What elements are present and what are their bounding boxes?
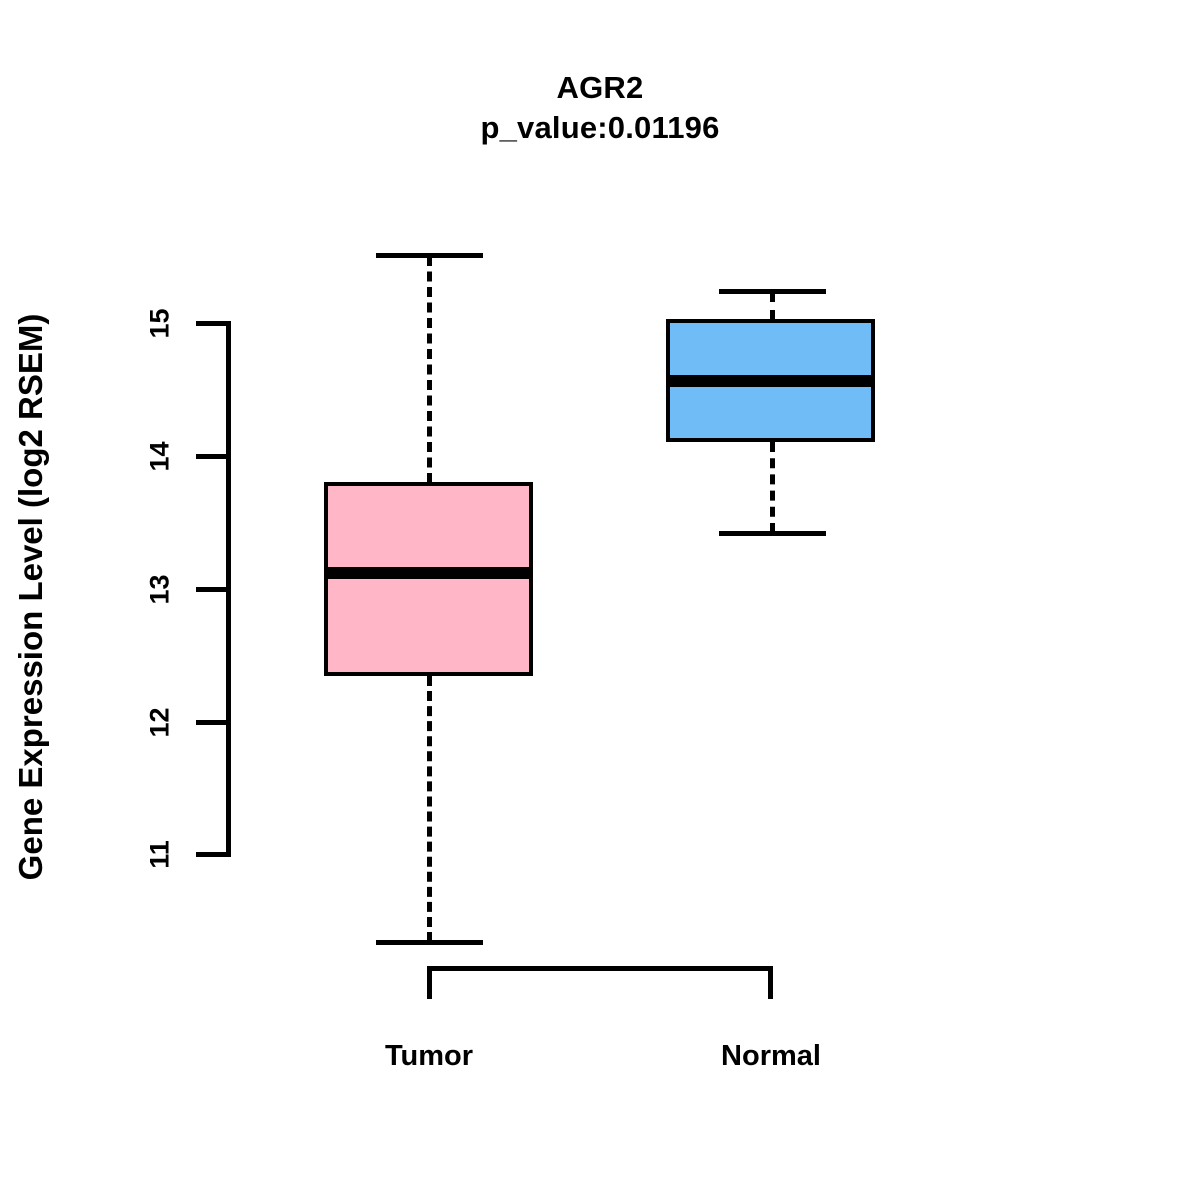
chart-subtitle-pvalue: p_value:0.01196 bbox=[0, 108, 1200, 148]
normal-upper-whisker-line bbox=[770, 292, 775, 320]
y-axis-tick-label-12: 12 bbox=[145, 693, 176, 753]
y-axis-tick-14 bbox=[196, 454, 230, 459]
normal-median-line bbox=[666, 375, 875, 387]
tumor-box bbox=[324, 482, 533, 676]
boxplot-figure: AGR2 p_value:0.01196 Gene Expression Lev… bbox=[0, 0, 1200, 1200]
y-axis-title: Gene Expression Level (log2 RSEM) bbox=[12, 177, 50, 1017]
y-axis-tick-13 bbox=[196, 587, 230, 592]
y-axis-tick-label-13: 13 bbox=[145, 560, 176, 620]
y-axis-tick-label-14: 14 bbox=[145, 427, 176, 487]
x-axis-line bbox=[427, 966, 773, 971]
x-axis-label-tumor: Tumor bbox=[279, 1040, 579, 1073]
title-block: AGR2 p_value:0.01196 bbox=[0, 68, 1200, 149]
y-axis-tick-label-11: 11 bbox=[145, 825, 176, 885]
y-axis-tick-label-15: 15 bbox=[145, 294, 176, 354]
tumor-median-line bbox=[324, 567, 533, 579]
normal-lower-whisker-line bbox=[770, 442, 775, 533]
y-axis-tick-15 bbox=[196, 321, 230, 326]
tumor-lower-whisker-line bbox=[427, 676, 432, 942]
tumor-lower-whisker-cap bbox=[376, 940, 483, 945]
x-axis-label-normal: Normal bbox=[621, 1040, 921, 1073]
normal-lower-whisker-cap bbox=[719, 531, 826, 536]
y-axis-tick-11 bbox=[196, 852, 230, 857]
x-axis-tick-tumor bbox=[427, 966, 432, 999]
page-title: AGR2 bbox=[0, 68, 1200, 108]
tumor-upper-whisker-line bbox=[427, 256, 432, 483]
x-axis-tick-normal bbox=[768, 966, 773, 999]
y-axis-tick-12 bbox=[196, 720, 230, 725]
